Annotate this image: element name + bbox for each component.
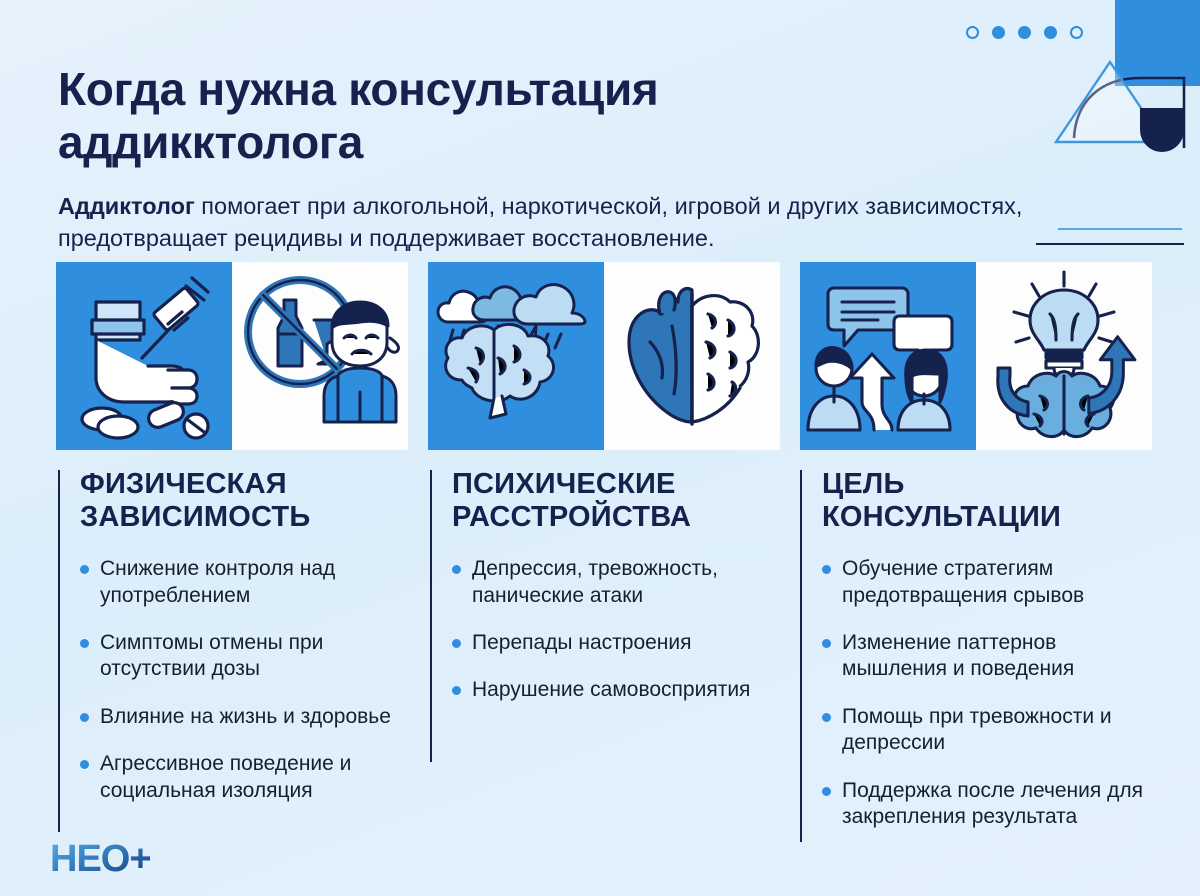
tile-heart-brain-split bbox=[604, 262, 780, 450]
bullet-list: Депрессия, тревожность, панические атаки… bbox=[452, 556, 782, 704]
column-heading: ФИЗИЧЕСКАЯ ЗАВИСИМОСТЬ bbox=[80, 468, 410, 534]
list-item: Перепады настроения bbox=[452, 630, 782, 656]
people-speech-bubbles-arrow-icon bbox=[800, 262, 976, 450]
column-heading-line-2: ЗАВИСИМОСТЬ bbox=[80, 501, 310, 533]
list-item: Нарушение самовосприятия bbox=[452, 677, 782, 703]
navy-quarter-circle-decor bbox=[1140, 108, 1184, 152]
dark-rule-decor bbox=[1036, 243, 1184, 245]
arm-injection-pills-icon bbox=[56, 262, 232, 450]
no-alcohol-sad-person-icon bbox=[232, 262, 408, 450]
column-divider bbox=[430, 470, 432, 762]
dot-solid-icon bbox=[992, 26, 1005, 39]
list-item: Поддержка после лечения для закрепления … bbox=[822, 778, 1160, 831]
page-subtitle: Аддиктолог помогает при алкогольной, нар… bbox=[58, 190, 1118, 255]
subtitle-lead-word: Аддиктолог bbox=[58, 193, 195, 219]
list-item: Агрессивное поведение и социальная изоля… bbox=[80, 751, 410, 804]
page-title: Когда нужна консультация аддикктолога bbox=[58, 63, 918, 170]
list-item: Снижение контроля над употреблением bbox=[80, 556, 410, 609]
brand-logo: НЕО+ bbox=[50, 838, 210, 880]
tile-arm-injection-pills bbox=[56, 262, 232, 450]
brand-logo-text: НЕО+ bbox=[50, 838, 151, 880]
heart-brain-split-icon bbox=[604, 262, 780, 450]
image-tile-pair-2 bbox=[428, 262, 780, 450]
tile-storm-clouds-brain bbox=[428, 262, 604, 450]
column-mental-disorders: ПСИХИЧЕСКИЕ РАССТРОЙСТВА Депрессия, трев… bbox=[430, 468, 782, 725]
column-physical-dependence: ФИЗИЧЕСКАЯ ЗАВИСИМОСТЬ Снижение контроля… bbox=[58, 468, 410, 825]
lightbulb-brain-arrow-icon bbox=[976, 262, 1152, 450]
tile-no-alcohol-sad-person bbox=[232, 262, 408, 450]
dot-solid-icon bbox=[1044, 26, 1057, 39]
column-heading-line-2: РАССТРОЙСТВА bbox=[452, 501, 691, 533]
column-heading: ЦЕЛЬ КОНСУЛЬТАЦИИ bbox=[822, 468, 1160, 534]
list-item: Изменение паттернов мышления и поведения bbox=[822, 630, 1160, 683]
infographic-canvas: Когда нужна консультация аддикктолога Ад… bbox=[0, 0, 1200, 896]
image-tile-pair-3 bbox=[800, 262, 1152, 450]
tile-lightbulb-brain-arrow bbox=[976, 262, 1152, 450]
tile-people-speech-arrow bbox=[800, 262, 976, 450]
column-heading-line-1: ПСИХИЧЕСКИЕ bbox=[452, 468, 676, 500]
list-item: Депрессия, тревожность, панические атаки bbox=[452, 556, 782, 609]
column-heading-line-2: КОНСУЛЬТАЦИИ bbox=[822, 501, 1061, 533]
subtitle-rest: помогает при алкогольной, наркотической,… bbox=[58, 193, 1022, 251]
light-rule-decor bbox=[1058, 228, 1182, 230]
list-item: Симптомы отмены при отсутствии дозы bbox=[80, 630, 410, 683]
column-heading-line-1: ЦЕЛЬ bbox=[822, 468, 905, 500]
column-heading: ПСИХИЧЕСКИЕ РАССТРОЙСТВА bbox=[452, 468, 782, 534]
column-divider bbox=[800, 470, 802, 842]
dot-solid-icon bbox=[1018, 26, 1031, 39]
column-heading-line-1: ФИЗИЧЕСКАЯ bbox=[80, 468, 287, 500]
page-title-line-2: аддикктолога bbox=[58, 116, 363, 168]
storm-clouds-over-brain-icon bbox=[428, 262, 604, 450]
dot-hollow-icon bbox=[966, 26, 979, 39]
bullet-list: Обучение стратегиям предотвращения срыво… bbox=[822, 556, 1160, 831]
column-divider bbox=[58, 470, 60, 832]
bullet-list: Снижение контроля над употреблением Симп… bbox=[80, 556, 410, 804]
list-item: Влияние на жизнь и здоровье bbox=[80, 704, 410, 730]
column-consultation-goal: ЦЕЛЬ КОНСУЛЬТАЦИИ Обучение стратегиям пр… bbox=[800, 468, 1160, 852]
list-item: Обучение стратегиям предотвращения срыво… bbox=[822, 556, 1160, 609]
list-item: Помощь при тревожности и депрессии bbox=[822, 704, 1160, 757]
image-tile-pair-1 bbox=[56, 262, 408, 450]
page-title-line-1: Когда нужна консультация bbox=[58, 63, 658, 115]
